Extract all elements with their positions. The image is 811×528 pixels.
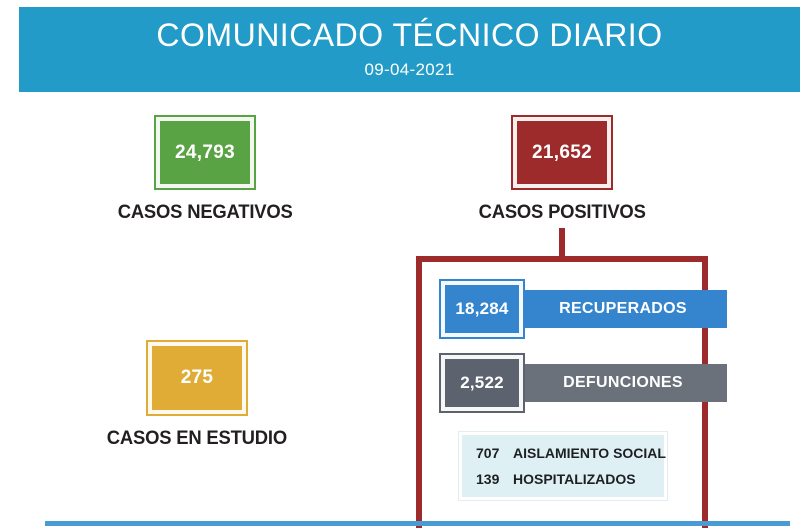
breakdown-value-defunciones: 2,522	[460, 373, 504, 393]
breakdown-label-defunciones: DEFUNCIONES	[563, 374, 683, 392]
stat-box-casos-negativos: 24,793	[156, 117, 254, 188]
stat-block-casos-positivos: 21,652 CASOS POSITIVOS	[450, 117, 674, 224]
info-number-hospitalizados: 139	[476, 471, 506, 487]
info-number-aislamiento-social: 707	[476, 445, 506, 461]
info-line-aislamiento-social: 707 AISLAMIENTO SOCIAL	[476, 445, 650, 461]
breakdown-bar-recuperados: RECUPERADOS	[519, 290, 727, 328]
breakdown-row-recuperados: 18,284 RECUPERADOS	[441, 281, 727, 337]
info-panel: 707 AISLAMIENTO SOCIAL 139 HOSPITALIZADO…	[459, 432, 667, 500]
report-date: 09-04-2021	[365, 60, 455, 80]
stat-block-casos-en-estudio: 275 CASOS EN ESTUDIO	[85, 342, 309, 450]
info-label-hospitalizados: HOSPITALIZADOS	[513, 471, 636, 487]
info-label-aislamiento-social: AISLAMIENTO SOCIAL	[513, 445, 666, 461]
breakdown-label-recuperados: RECUPERADOS	[559, 300, 687, 318]
breakdown-chip-recuperados: 18,284	[441, 281, 523, 337]
stat-box-casos-en-estudio: 275	[148, 342, 246, 414]
breakdown-bar-defunciones: DEFUNCIONES	[519, 364, 727, 402]
stat-value-casos-positivos: 21,652	[532, 142, 592, 164]
stat-box-casos-positivos: 21,652	[513, 117, 611, 188]
breakdown-chip-defunciones: 2,522	[441, 355, 523, 411]
info-line-hospitalizados: 139 HOSPITALIZADOS	[476, 471, 650, 487]
breakdown-value-recuperados: 18,284	[455, 299, 508, 319]
stat-caption-casos-negativos: CASOS NEGATIVOS	[118, 202, 293, 224]
stat-value-casos-en-estudio: 275	[181, 367, 214, 389]
stat-caption-casos-en-estudio: CASOS EN ESTUDIO	[107, 428, 287, 450]
footer-divider	[45, 521, 790, 526]
stat-value-casos-negativos: 24,793	[175, 142, 235, 164]
header-banner: COMUNICADO TÉCNICO DIARIO 09-04-2021	[19, 7, 800, 92]
page-title: COMUNICADO TÉCNICO DIARIO	[156, 19, 662, 53]
breakdown-row-defunciones: 2,522 DEFUNCIONES	[441, 355, 727, 411]
stat-block-casos-negativos: 24,793 CASOS NEGATIVOS	[93, 117, 317, 224]
stat-caption-casos-positivos: CASOS POSITIVOS	[478, 202, 645, 224]
